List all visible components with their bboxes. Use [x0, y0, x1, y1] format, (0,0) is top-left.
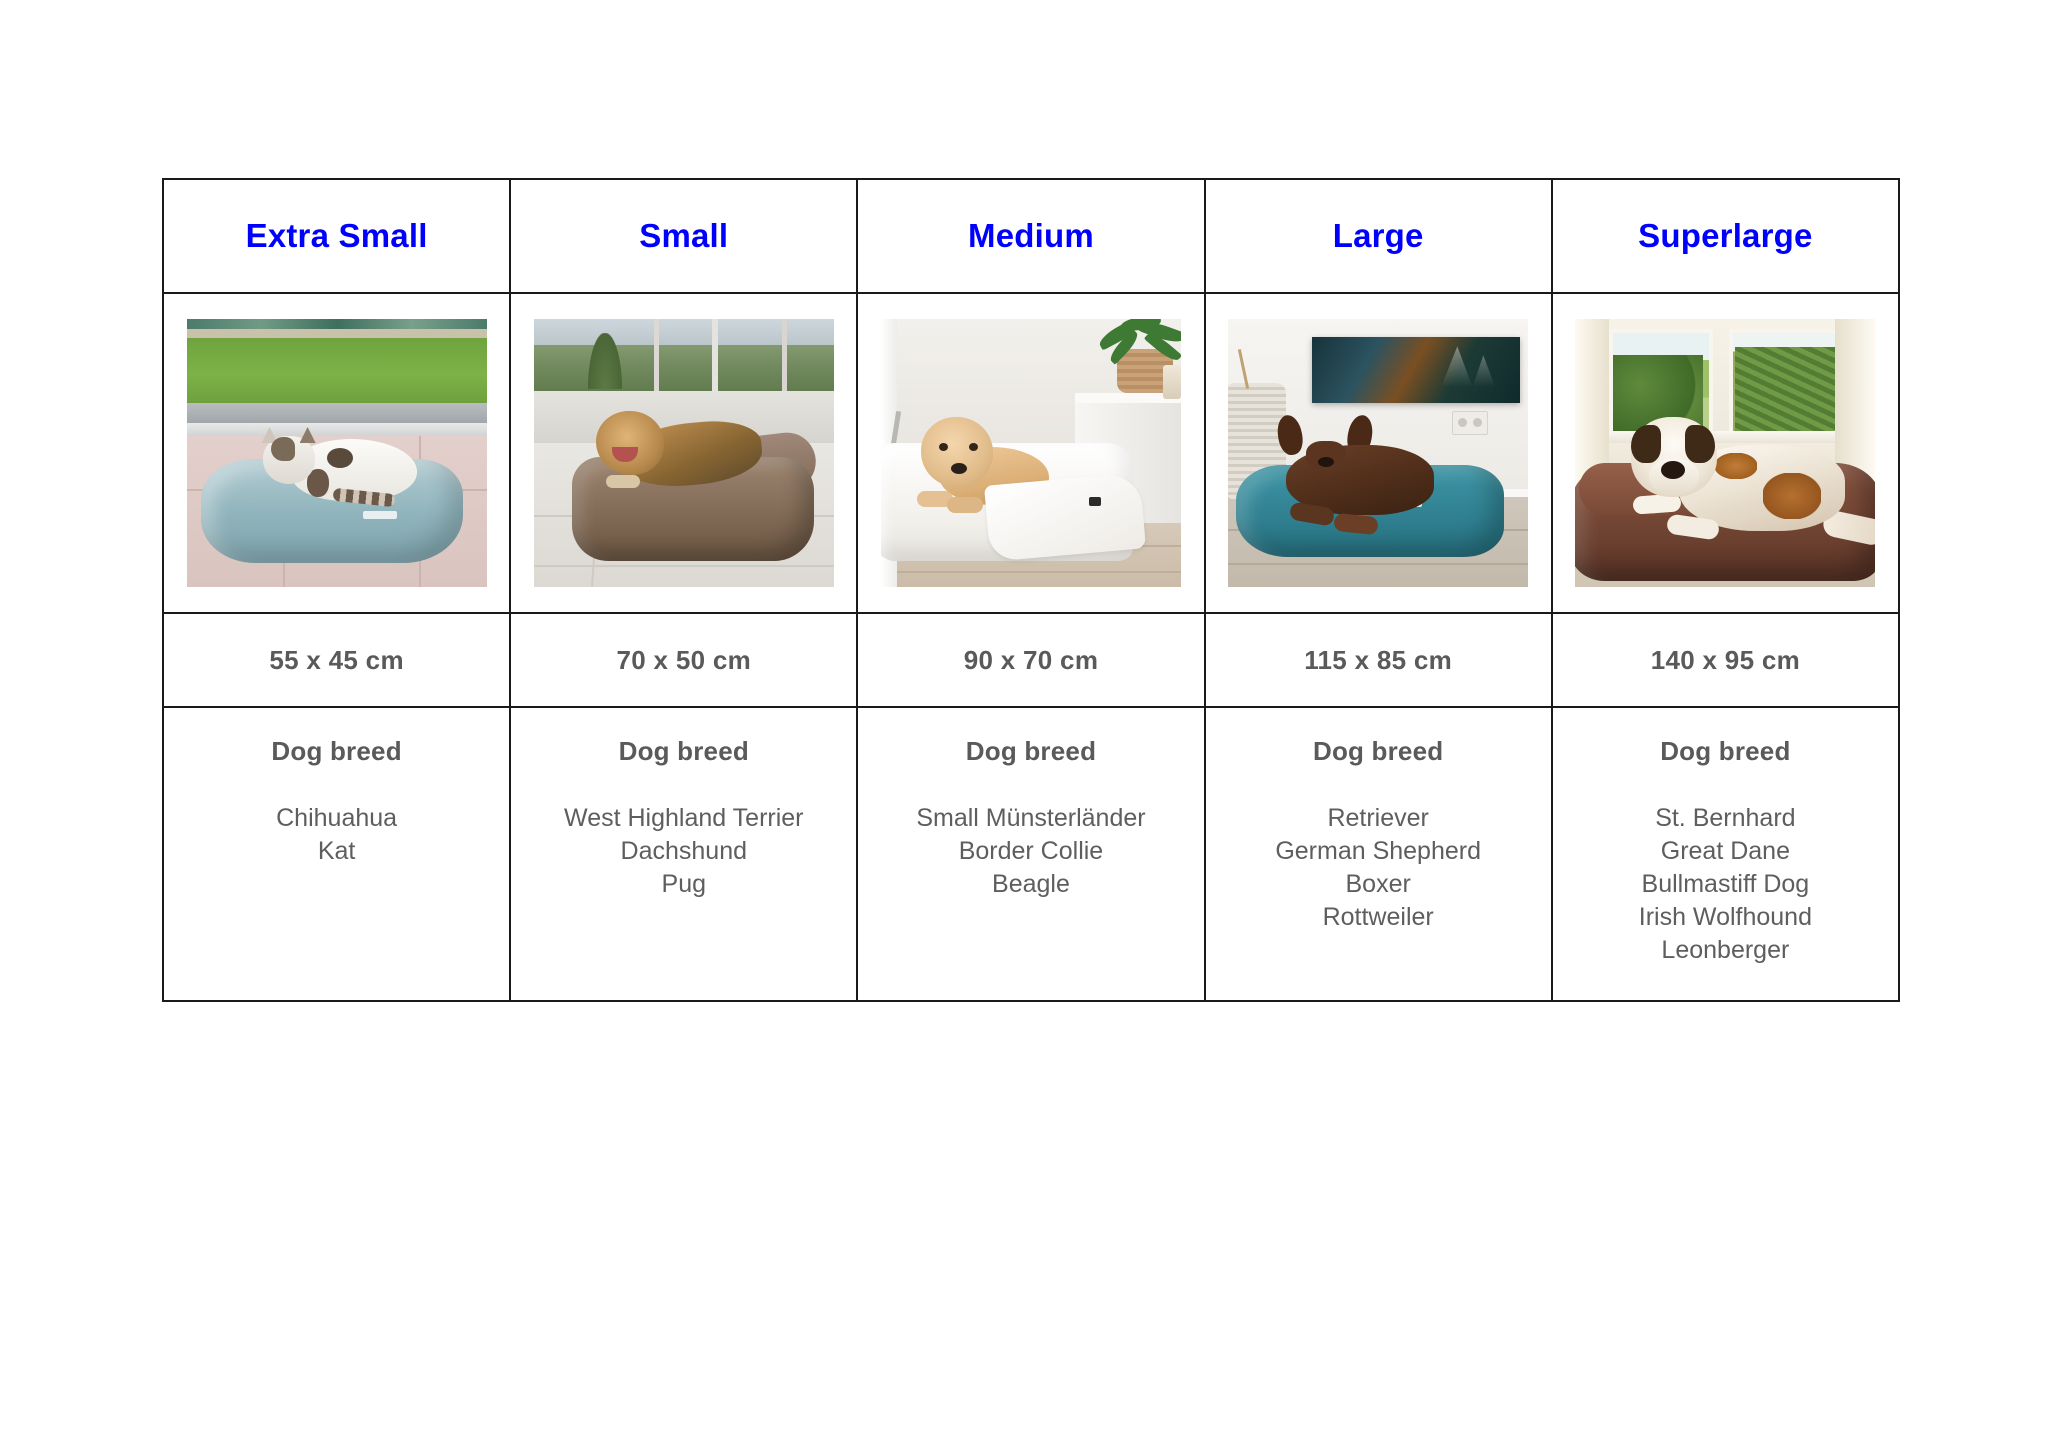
breed-heading-small: Dog breed [511, 736, 856, 767]
photo-candle [1163, 365, 1181, 399]
breed-block-superlarge: Dog breed St. Bernhard Great Dane Bullma… [1553, 708, 1898, 967]
column-title-extra-small: Extra Small [164, 218, 509, 254]
breed-cell-extra-small: Dog breed Chihuahua Kat [163, 707, 510, 1001]
header-cell-extra-small: Extra Small [163, 179, 510, 293]
image-cell-small [510, 293, 857, 613]
photo-cat-face-marking [271, 437, 295, 461]
size-value-extra-small: 55 x 45 cm [164, 645, 509, 676]
size-value-large: 115 x 85 cm [1206, 645, 1551, 676]
header-cell-large: Large [1205, 179, 1552, 293]
list-item: Small Münsterländer [858, 802, 1203, 835]
photo-cockapoo-head [921, 417, 993, 487]
photo-zipper-pull [1089, 497, 1101, 506]
breed-list-superlarge: St. Bernhard Great Dane Bullmastiff Dog … [1553, 802, 1898, 967]
photo-window-mullion-1 [654, 319, 659, 399]
header-cell-medium: Medium [857, 179, 1204, 293]
photo-cockapoo-paw-right [947, 497, 983, 513]
list-item: Rottweiler [1206, 901, 1551, 934]
photo-window-sill [187, 403, 487, 425]
size-cell-small: 70 x 50 cm [510, 613, 857, 707]
size-value-small: 70 x 50 cm [511, 645, 856, 676]
header-cell-superlarge: Superlarge [1552, 179, 1899, 293]
breed-heading-extra-small: Dog breed [164, 736, 509, 767]
table-size-row: 55 x 45 cm 70 x 50 cm 90 x 70 cm 115 x 8… [163, 613, 1899, 707]
header-cell-small: Small [510, 179, 857, 293]
breed-block-extra-small: Dog breed Chihuahua Kat [164, 708, 509, 868]
image-cell-large [1205, 293, 1552, 613]
photo-bed-cover-flap [984, 472, 1146, 561]
product-photo-extra-small [187, 319, 487, 587]
breed-block-large: Dog breed Retriever German Shepherd Boxe… [1206, 708, 1551, 934]
size-cell-extra-small: 55 x 45 cm [163, 613, 510, 707]
breed-heading-medium: Dog breed [858, 736, 1203, 767]
photo-wall-socket [1452, 411, 1488, 435]
table-image-row [163, 293, 1899, 613]
photo-plank-line-2 [881, 571, 1181, 573]
list-item: Dachshund [511, 835, 856, 868]
photo-window-mullion-2 [712, 319, 718, 399]
product-photo-superlarge [1575, 319, 1875, 587]
list-item: Chihuahua [164, 802, 509, 835]
list-item: St. Bernhard [1553, 802, 1898, 835]
photo-wrapper-small [511, 294, 856, 612]
breed-block-medium: Dog breed Small Münsterländer Border Col… [858, 708, 1203, 901]
photo-st-bernard-patch-back [1715, 453, 1757, 479]
list-item: Irish Wolfhound [1553, 901, 1898, 934]
photo-cockapoo-eye-left [939, 443, 948, 451]
breed-list-medium: Small Münsterländer Border Collie Beagle [858, 802, 1203, 901]
image-cell-extra-small [163, 293, 510, 613]
breed-heading-superlarge: Dog breed [1553, 736, 1898, 767]
size-cell-superlarge: 140 x 95 cm [1552, 613, 1899, 707]
list-item: Retriever [1206, 802, 1551, 835]
photo-window-mullion-3 [782, 319, 787, 399]
photo-st-bernard-patch-hind [1763, 473, 1821, 519]
list-item: Pug [511, 868, 856, 901]
list-item: Great Dane [1553, 835, 1898, 868]
list-item: Boxer [1206, 868, 1551, 901]
photo-hillside [534, 345, 834, 393]
photo-brand-tag [363, 511, 397, 519]
photo-terrier-head [596, 411, 664, 475]
product-photo-small [534, 319, 834, 587]
photo-agave-plant [588, 333, 622, 389]
breed-cell-medium: Dog breed Small Münsterländer Border Col… [857, 707, 1204, 1001]
photo-lawn [187, 338, 487, 404]
image-cell-superlarge [1552, 293, 1899, 613]
column-title-large: Large [1206, 218, 1551, 254]
list-item: Bullmastiff Dog [1553, 868, 1898, 901]
photo-wall-artwork [1312, 337, 1520, 403]
image-cell-medium [857, 293, 1204, 613]
list-item: German Shepherd [1206, 835, 1551, 868]
breed-list-extra-small: Chihuahua Kat [164, 802, 509, 868]
size-cell-large: 115 x 85 cm [1205, 613, 1552, 707]
document-page: Extra Small Small Medium Large Superlarg… [0, 0, 2048, 1448]
breed-list-small: West Highland Terrier Dachshund Pug [511, 802, 856, 901]
size-cell-medium: 90 x 70 cm [857, 613, 1204, 707]
photo-cockapoo-nose [951, 463, 967, 474]
size-value-medium: 90 x 70 cm [858, 645, 1203, 676]
list-item: Border Collie [858, 835, 1203, 868]
list-item: West Highland Terrier [511, 802, 856, 835]
photo-door-rail [187, 423, 487, 437]
photo-wrapper-medium [858, 294, 1203, 612]
table-breed-row: Dog breed Chihuahua Kat Dog breed West H… [163, 707, 1899, 1001]
list-item: Leonberger [1553, 934, 1898, 967]
photo-st-bernard-eye-mask-left [1631, 425, 1661, 463]
photo-wrapper-superlarge [1553, 294, 1898, 612]
table-header-row: Extra Small Small Medium Large Superlarg… [163, 179, 1899, 293]
breed-heading-large: Dog breed [1206, 736, 1551, 767]
photo-grout-line-2 [534, 565, 834, 567]
photo-terrier-paw [606, 475, 640, 488]
breed-block-small: Dog breed West Highland Terrier Dachshun… [511, 708, 856, 901]
breed-cell-superlarge: Dog breed St. Bernhard Great Dane Bullma… [1552, 707, 1899, 1001]
product-photo-medium [881, 319, 1181, 587]
photo-wrapper-large [1206, 294, 1551, 612]
size-value-superlarge: 140 x 95 cm [1553, 645, 1898, 676]
breed-list-large: Retriever German Shepherd Boxer Rottweil… [1206, 802, 1551, 934]
breed-cell-large: Dog breed Retriever German Shepherd Boxe… [1205, 707, 1552, 1001]
photo-cockapoo-eye-right [969, 443, 978, 451]
dog-bed-size-table: Extra Small Small Medium Large Superlarg… [162, 178, 1900, 1002]
column-title-superlarge: Superlarge [1553, 218, 1898, 254]
column-title-small: Small [511, 218, 856, 254]
photo-plank-line-2 [1228, 563, 1528, 565]
photo-cat-spot-upper [327, 448, 353, 468]
list-item: Kat [164, 835, 509, 868]
breed-cell-small: Dog breed West Highland Terrier Dachshun… [510, 707, 857, 1001]
photo-wrapper-extra-small [164, 294, 509, 612]
list-item: Beagle [858, 868, 1203, 901]
product-photo-large [1228, 319, 1528, 587]
column-title-medium: Medium [858, 218, 1203, 254]
